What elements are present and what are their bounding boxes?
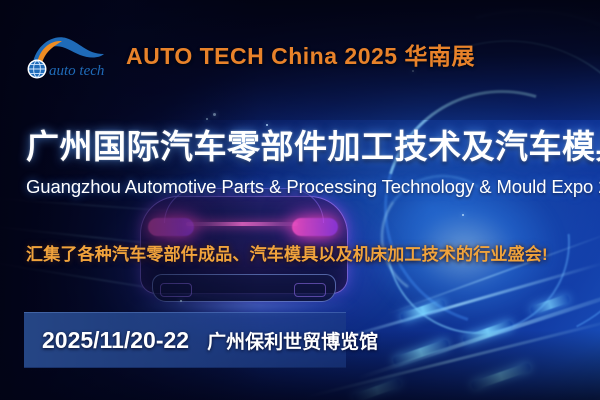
- auto-tech-logo[interactable]: auto tech: [18, 28, 118, 80]
- logo-wordmark: auto tech: [49, 63, 104, 79]
- banner-header: auto tech AUTO TECH China 2025 华南展: [18, 28, 475, 80]
- expo-banner: auto tech AUTO TECH China 2025 华南展 广州国际汽…: [0, 0, 600, 400]
- car-globe-logo-icon: auto tech: [18, 28, 118, 80]
- date-venue-bar: 2025/11/20-22 广州保利世贸博览馆: [24, 312, 346, 368]
- event-venue: 广州保利世贸博览馆: [207, 327, 378, 354]
- main-title: 广州国际汽车零部件加工技术及汽车模具展览会: [26, 120, 600, 168]
- event-date: 2025/11/20-22: [42, 327, 189, 354]
- header-title: AUTO TECH China 2025 华南展: [126, 37, 475, 71]
- tagline: 汇集了各种汽车零部件成品、汽车模具以及机床加工技术的行业盛会!: [26, 240, 548, 265]
- english-subtitle: Guangzhou Automotive Parts & Processing …: [26, 176, 600, 198]
